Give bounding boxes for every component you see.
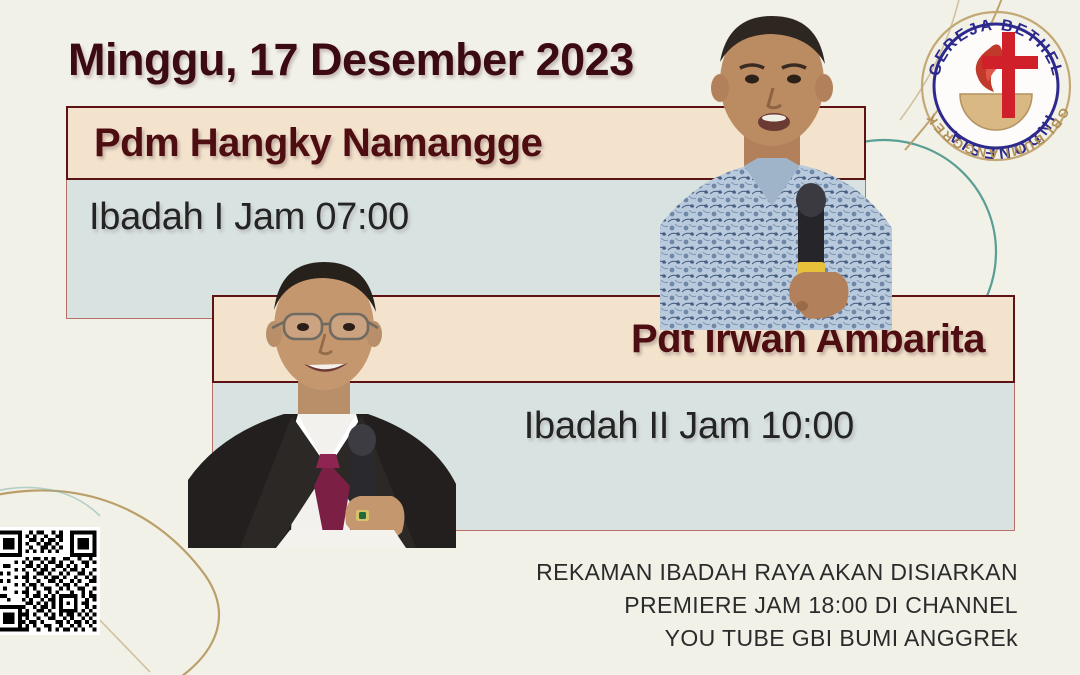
- gbi-logo: GEREJA BETHEL INDONESIA GBI BUMI ANGGREK: [916, 2, 1076, 164]
- broadcast-note: REKAMAN IBADAH RAYA AKAN DISIARKAN PREMI…: [458, 556, 1018, 655]
- broadcast-note-line-2: PREMIERE JAM 18:00 DI CHANNEL: [458, 589, 1018, 622]
- speaker-photo-irwan-ambarita: [180, 248, 470, 548]
- broadcast-note-line-1: REKAMAN IBADAH RAYA AKAN DISIARKAN: [458, 556, 1018, 589]
- service-announcement-poster: Minggu, 17 Desember 2023: [0, 0, 1080, 675]
- broadcast-note-line-3: YOU TUBE GBI BUMI ANGGREk: [458, 622, 1018, 655]
- date-heading: Minggu, 17 Desember 2023: [68, 34, 634, 86]
- qr-code[interactable]: [0, 527, 100, 635]
- speaker-photo-hangky-namangge: [640, 0, 920, 330]
